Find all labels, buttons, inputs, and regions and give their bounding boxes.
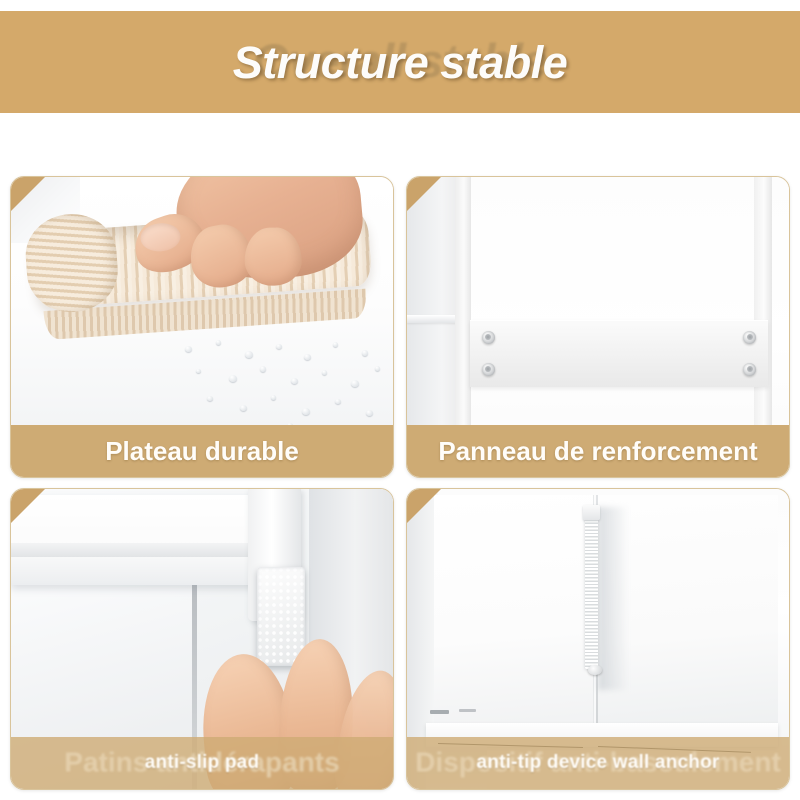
caption-label: Panneau de renforcement [438,436,757,467]
cabinet-door-left [434,495,594,726]
hand [121,177,367,298]
wall-anchor-icon [588,665,602,675]
shelf-edge [407,315,459,323]
corner-accent-icon [11,177,45,211]
feature-panel-patins-antiderapants[interactable]: Patins antidérapants anti-slip pad [10,488,394,790]
caption-label: anti-slip pad [145,752,260,774]
anti-tip-strap [585,507,598,669]
corner-accent-icon [407,177,441,211]
reinforcement-brace [470,320,768,388]
screw-icon [482,363,495,376]
strap-top-bracket [583,505,599,520]
feature-grid: Plateau durable Panneau de renforcement [10,176,790,790]
caption-label: Plateau durable [105,436,299,467]
sticker-label [459,709,476,713]
corner-accent-icon [11,489,45,523]
feature-panel-dispositif-anti-basculement[interactable]: Dispositif anti-basculement anti-tip dev… [406,488,790,790]
caption-bar-patins-antiderapants: Patins antidérapants anti-slip pad [11,737,393,789]
tabletop-lip [11,543,278,557]
screw-icon [743,363,756,376]
caption-bar-dispositif-anti-basculement: Dispositif anti-basculement anti-tip dev… [407,737,789,789]
caption-bar-plateau-durable: Plateau durable [11,425,393,477]
page-title: Structure stable [0,37,800,89]
header-banner: Overall stable Structure stable [0,11,800,113]
tabletop-edge [11,495,278,585]
corner-accent-icon [407,489,441,523]
feature-panel-panneau-renforcement[interactable]: Panneau de renforcement [406,176,790,478]
feature-panel-plateau-durable[interactable]: Plateau durable [10,176,394,478]
screw-icon [482,331,495,344]
screw-icon [743,331,756,344]
caption-label: anti-tip device wall anchor [477,752,720,774]
caption-bar-panneau-renforcement: Panneau de renforcement [407,425,789,477]
strap-shadow [598,507,629,690]
sticker-label [430,710,449,715]
